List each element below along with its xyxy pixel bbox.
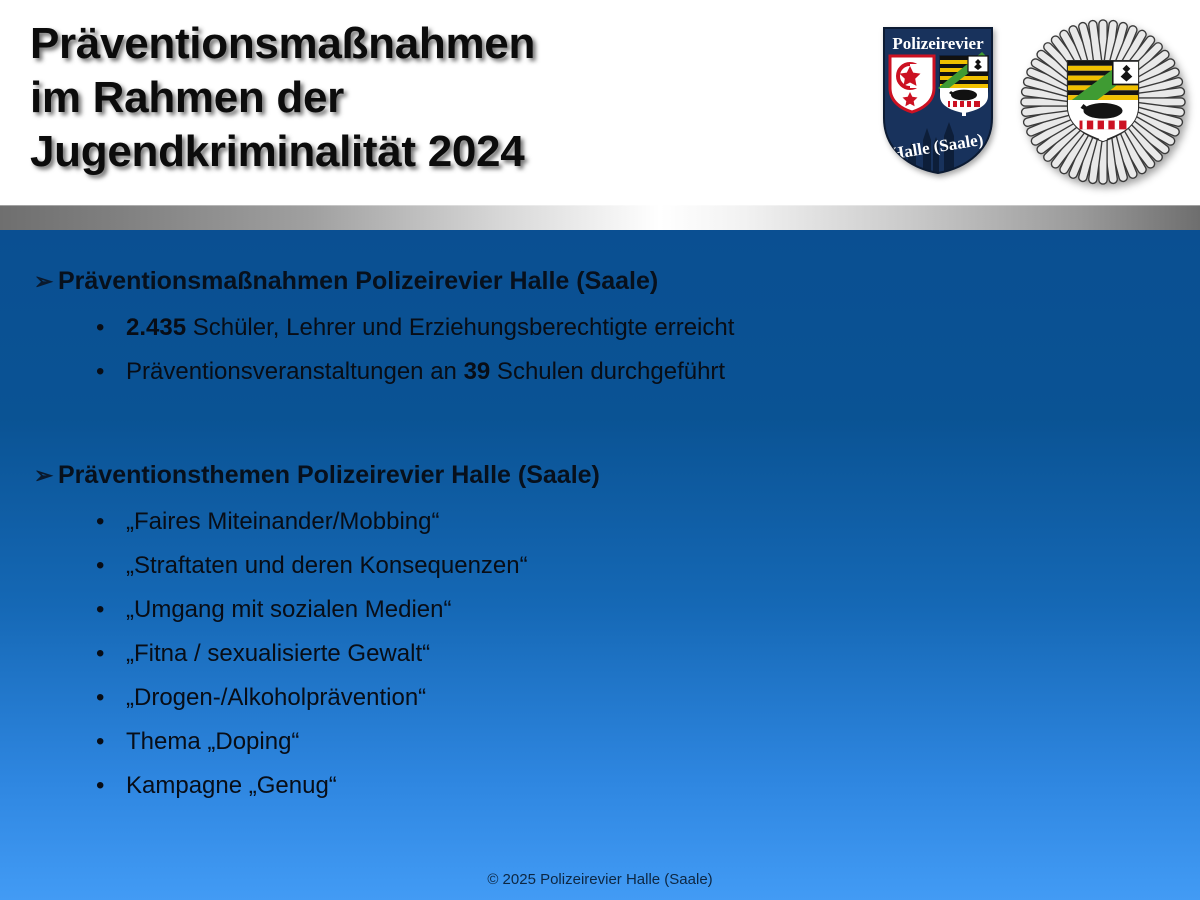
page-title: Präventionsmaßnahmen im Rahmen der Jugen… (30, 17, 850, 179)
group-heading-label: Präventionsthemen Polizeirevier Halle (S… (58, 458, 600, 492)
list-item-label: „Faires Miteinander/Mobbing“ (126, 500, 439, 544)
arrow-bullet-icon: ➢ (34, 264, 58, 298)
list-item-label: „Drogen-/Alkoholprävention“ (126, 676, 426, 720)
list-item-label: „Fitna / sexualisierte Gewalt“ (126, 632, 430, 676)
group-heading-topics: ➢ Präventionsthemen Polizeirevier Halle … (0, 458, 1200, 492)
measures-list: • 2.435 Schüler, Lehrer und Erziehungsbe… (0, 306, 1200, 394)
silver-divider-bar (0, 205, 1200, 230)
content-group-topics: ➢ Präventionsthemen Polizeirevier Halle … (0, 458, 1200, 808)
dot-bullet-icon: • (96, 350, 126, 394)
dot-bullet-icon: • (96, 588, 126, 632)
slide-header: Präventionsmaßnahmen im Rahmen der Jugen… (0, 0, 1200, 205)
content-group-measures: ➢ Präventionsmaßnahmen Polizeirevier Hal… (0, 264, 1200, 394)
list-item-rest: Schulen durchgeführt (490, 358, 725, 385)
list-item-label: Thema „Doping“ (126, 720, 299, 764)
list-item-number: 2.435 (126, 314, 186, 341)
list-item: • Thema „Doping“ (0, 720, 1200, 764)
slide-body: ➢ Präventionsmaßnahmen Polizeirevier Hal… (0, 230, 1200, 900)
group-heading-label: Präventionsmaßnahmen Polizeirevier Halle… (58, 264, 658, 298)
list-item-rest: Schüler, Lehrer und Erziehungsberechtigt… (186, 314, 734, 341)
list-item: • Kampagne „Genug“ (0, 764, 1200, 808)
presentation-slide: Präventionsmaßnahmen im Rahmen der Jugen… (0, 0, 1200, 900)
list-item-label: Kampagne „Genug“ (126, 764, 337, 808)
dot-bullet-icon: • (96, 676, 126, 720)
arrow-bullet-icon: ➢ (34, 458, 58, 492)
list-item: • „Straftaten und deren Konsequenzen“ (0, 544, 1200, 588)
list-item: • „Faires Miteinander/Mobbing“ (0, 500, 1200, 544)
footer-copyright: © 2025 Polizeirevier Halle (Saale) (0, 870, 1200, 890)
list-item-pre: Präventionsveranstaltungen an (126, 358, 464, 385)
dot-bullet-icon: • (96, 500, 126, 544)
dot-bullet-icon: • (96, 306, 126, 350)
list-item-label: „Umgang mit sozialen Medien“ (126, 588, 451, 632)
list-item: • „Fitna / sexualisierte Gewalt“ (0, 632, 1200, 676)
dot-bullet-icon: • (96, 764, 126, 808)
title-block: Präventionsmaßnahmen im Rahmen der Jugen… (30, 17, 850, 179)
list-item: • 2.435 Schüler, Lehrer und Erziehungsbe… (0, 306, 1200, 350)
list-item-number: 39 (464, 358, 491, 385)
content-area: ➢ Präventionsmaßnahmen Polizeirevier Hal… (0, 230, 1200, 808)
polizeirevier-halle-saale-shield-icon: Polizeirevier (878, 22, 998, 177)
dot-bullet-icon: • (96, 632, 126, 676)
polizei-sachsen-anhalt-star-badge-icon (1017, 14, 1189, 190)
logo-area: Polizeirevier (872, 12, 1192, 192)
list-item-label: „Straftaten und deren Konsequenzen“ (126, 544, 528, 588)
dot-bullet-icon: • (96, 720, 126, 764)
topics-list: • „Faires Miteinander/Mobbing“ • „Straft… (0, 500, 1200, 808)
group-heading-measures: ➢ Präventionsmaßnahmen Polizeirevier Hal… (0, 264, 1200, 298)
svg-text:Polizeirevier: Polizeirevier (892, 34, 984, 53)
list-item: • „Drogen-/Alkoholprävention“ (0, 676, 1200, 720)
list-item-label: 2.435 Schüler, Lehrer und Erziehungsbere… (126, 306, 734, 350)
dot-bullet-icon: • (96, 544, 126, 588)
list-item-label: Präventionsveranstaltungen an 39 Schulen… (126, 350, 725, 394)
list-item: • Präventionsveranstaltungen an 39 Schul… (0, 350, 1200, 394)
list-item: • „Umgang mit sozialen Medien“ (0, 588, 1200, 632)
